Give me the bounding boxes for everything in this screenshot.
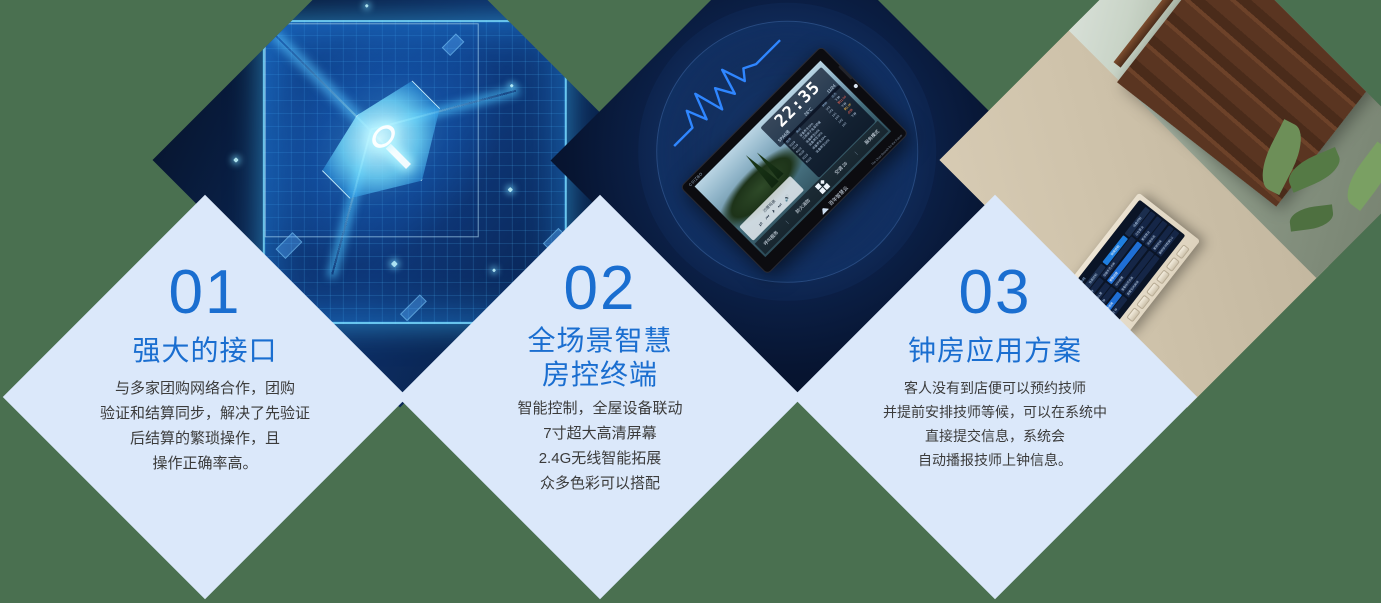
feature-diamond-board: CSIZBO 22:35 SPA6房 26°C 11/24	[0, 0, 1381, 603]
feature-description: 与多家团购网络合作，团购 验证和结算同步，解决了先验证 后结算的繁琐操作，且 操…	[100, 376, 310, 476]
play-icon[interactable]: ⏵	[770, 208, 776, 214]
dock-divider: |	[853, 150, 857, 154]
side-indicator-icon	[852, 83, 858, 89]
hw-button[interactable]	[1136, 295, 1150, 310]
feature-number: 02	[564, 258, 637, 320]
feature-title: 强大的接口	[132, 334, 277, 368]
feature-card-content: 02 全场景智慧 房控终端 智能控制，全屋设备联动 7寸超大高清屏幕 2.4G无…	[457, 254, 743, 540]
hw-button[interactable]	[1126, 308, 1140, 323]
feature-title: 钟房应用方案	[908, 334, 1082, 368]
dock-divider: |	[784, 219, 788, 223]
hw-button[interactable]	[1145, 282, 1159, 297]
apps-grid-icon[interactable]	[814, 178, 830, 194]
shuffle-icon[interactable]: ⇄	[757, 220, 764, 227]
dock-aircon[interactable]: 空调 26	[833, 160, 848, 175]
prev-icon[interactable]: ⏮	[763, 213, 770, 220]
feature-description: 智能控制，全屋设备联动 7寸超大高清屏幕 2.4G无线智能拓展 众多色彩可以搭配	[517, 396, 682, 496]
feature-title: 全场景智慧 房控终端	[527, 324, 672, 392]
next-icon[interactable]: ⏭	[775, 201, 782, 208]
hw-button[interactable]	[1165, 257, 1179, 272]
feature-card-content: 01 强大的接口 与多家团购网络合作，团购 验证和结算同步，解决了先验证 后结算…	[62, 254, 348, 540]
volume-icon[interactable]: 🔊	[782, 193, 791, 202]
hw-button[interactable]	[1155, 270, 1169, 285]
feature-number: 01	[169, 262, 242, 324]
feature-description: 客人没有到店便可以预约技师 并提前安排技师等候，可以在系统中 直接提交信息，系统…	[883, 376, 1107, 472]
feature-card-content: 03 钟房应用方案 客人没有到店便可以预约技师 并提前安排技师等候，可以在系统中…	[852, 254, 1138, 540]
feature-number: 03	[959, 262, 1032, 324]
hw-button[interactable]	[1175, 245, 1189, 260]
brand-mark-icon	[819, 205, 829, 215]
